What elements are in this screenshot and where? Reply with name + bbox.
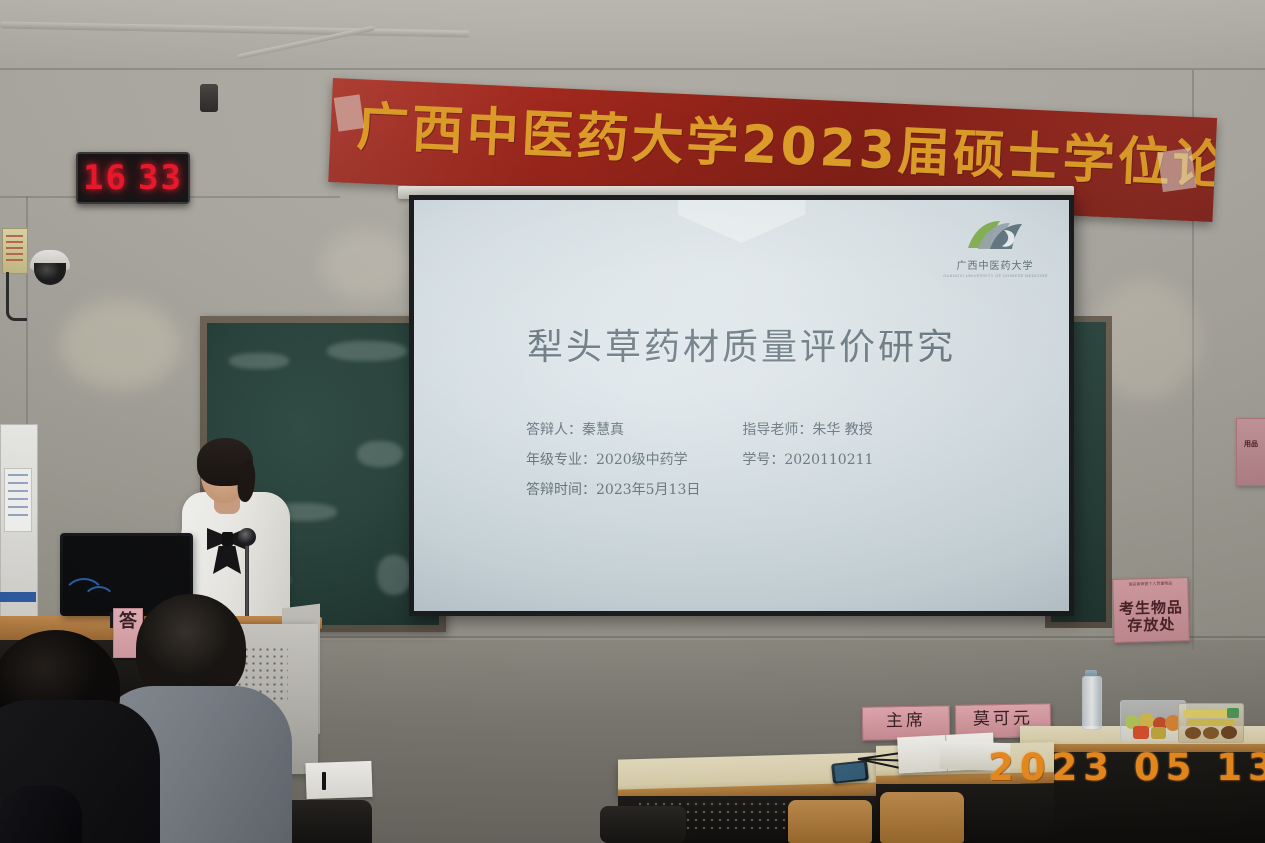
snack-piece <box>1187 719 1235 726</box>
chalk-smudge <box>377 555 411 595</box>
chair-center-right[interactable] <box>880 792 964 843</box>
snack-piece <box>1203 727 1219 739</box>
slide-chevron-decoration <box>678 200 806 243</box>
slide-metadata: 答辩人：秦慧真 年级专业：2020级中药学 答辩时间：2023年5月13日 指导… <box>526 415 996 505</box>
banner-tape-right <box>1157 148 1196 192</box>
university-logo-name: 广西中医药大学 <box>943 257 1047 272</box>
clock-hours: 16 <box>83 161 128 195</box>
bowtie-knot <box>222 532 233 546</box>
digital-clock: 16 33 <box>76 152 190 204</box>
smartphone-screen <box>834 762 866 781</box>
snack-piece <box>1185 727 1201 739</box>
wall-upper-band <box>0 0 1265 70</box>
presenter-nameplate-text: 答 <box>114 609 142 633</box>
left-wall-notice <box>4 468 32 532</box>
chair-right[interactable] <box>788 800 872 843</box>
chalk-smudge <box>229 353 289 369</box>
wall-speaker <box>200 84 218 112</box>
fruit-piece <box>1151 727 1166 739</box>
wall-seam-horizontal-top <box>0 68 1265 70</box>
university-logo-subtitle: GUANGXI UNIVERSITY OF CHINESE MEDICINE <box>943 273 1047 278</box>
slide-title: 犁头草药材质量评价研究 <box>414 318 1069 370</box>
slide-advisor-line: 指导老师：朱华 教授 <box>742 415 873 445</box>
slide-meta-right-column: 指导老师：朱华 教授 学号：2020110211 <box>742 415 873 505</box>
chalk-smudge <box>357 441 403 467</box>
sign-storage-title: 考生物品存放处 <box>1113 585 1188 635</box>
fruit-piece <box>1133 726 1149 739</box>
microphone-icon <box>238 528 256 546</box>
slide-meta-left-column: 答辩人：秦慧真 年级专业：2020级中药学 答辩时间：2023年5月13日 <box>526 415 700 505</box>
note-pen <box>322 772 326 790</box>
utility-box <box>2 228 28 274</box>
judge-nameplate-chair-text: 主席 <box>863 706 949 735</box>
sign-storage-notice: 请妥善保管个人贵重物品 考生物品存放处 <box>1112 577 1190 643</box>
slide-major-line: 年级专业：2020级中药学 <box>526 445 700 475</box>
desk-cable <box>82 586 116 620</box>
sign-door-notice: 用品 <box>1236 418 1265 486</box>
university-swoosh-icon <box>966 218 1024 256</box>
snack-piece <box>1221 726 1237 739</box>
water-bottle[interactable] <box>1082 676 1102 730</box>
audience-far-left <box>0 786 82 843</box>
left-wall-board-bar <box>0 592 36 602</box>
smartphone[interactable] <box>831 760 869 784</box>
utility-box-label <box>6 235 23 263</box>
camera-datestamp: 2023 05 13 <box>988 746 1265 789</box>
banner-tape-left <box>334 94 364 131</box>
presentation-slide: 广西中医药大学 GUANGXI UNIVERSITY OF CHINESE ME… <box>414 200 1069 611</box>
sign-door-title: 用品 <box>1237 419 1265 449</box>
note-paper[interactable] <box>305 761 372 799</box>
slide-date-line: 答辩时间：2023年5月13日 <box>526 475 700 505</box>
slide-presenter-line: 答辩人：秦慧真 <box>526 415 700 445</box>
clock-minutes: 33 <box>138 161 183 195</box>
classroom-photo-scene: 16 33 广西中医药大学2023届硕士学位论文答辩会 <box>0 0 1265 843</box>
projector-screen[interactable]: 广西中医药大学 GUANGXI UNIVERSITY OF CHINESE ME… <box>409 195 1074 616</box>
chair-far-left[interactable] <box>600 806 686 843</box>
chalk-smudge <box>327 341 407 361</box>
left-wall-notice-lines <box>8 474 28 522</box>
utility-cable <box>6 272 27 321</box>
slide-studentid-line: 学号：2020110211 <box>742 445 873 475</box>
snack-piece <box>1227 708 1239 718</box>
snack-platter[interactable] <box>1178 703 1244 743</box>
university-logo: 广西中医药大学 GUANGXI UNIVERSITY OF CHINESE ME… <box>943 218 1047 294</box>
fruit-platter[interactable] <box>1120 700 1186 742</box>
